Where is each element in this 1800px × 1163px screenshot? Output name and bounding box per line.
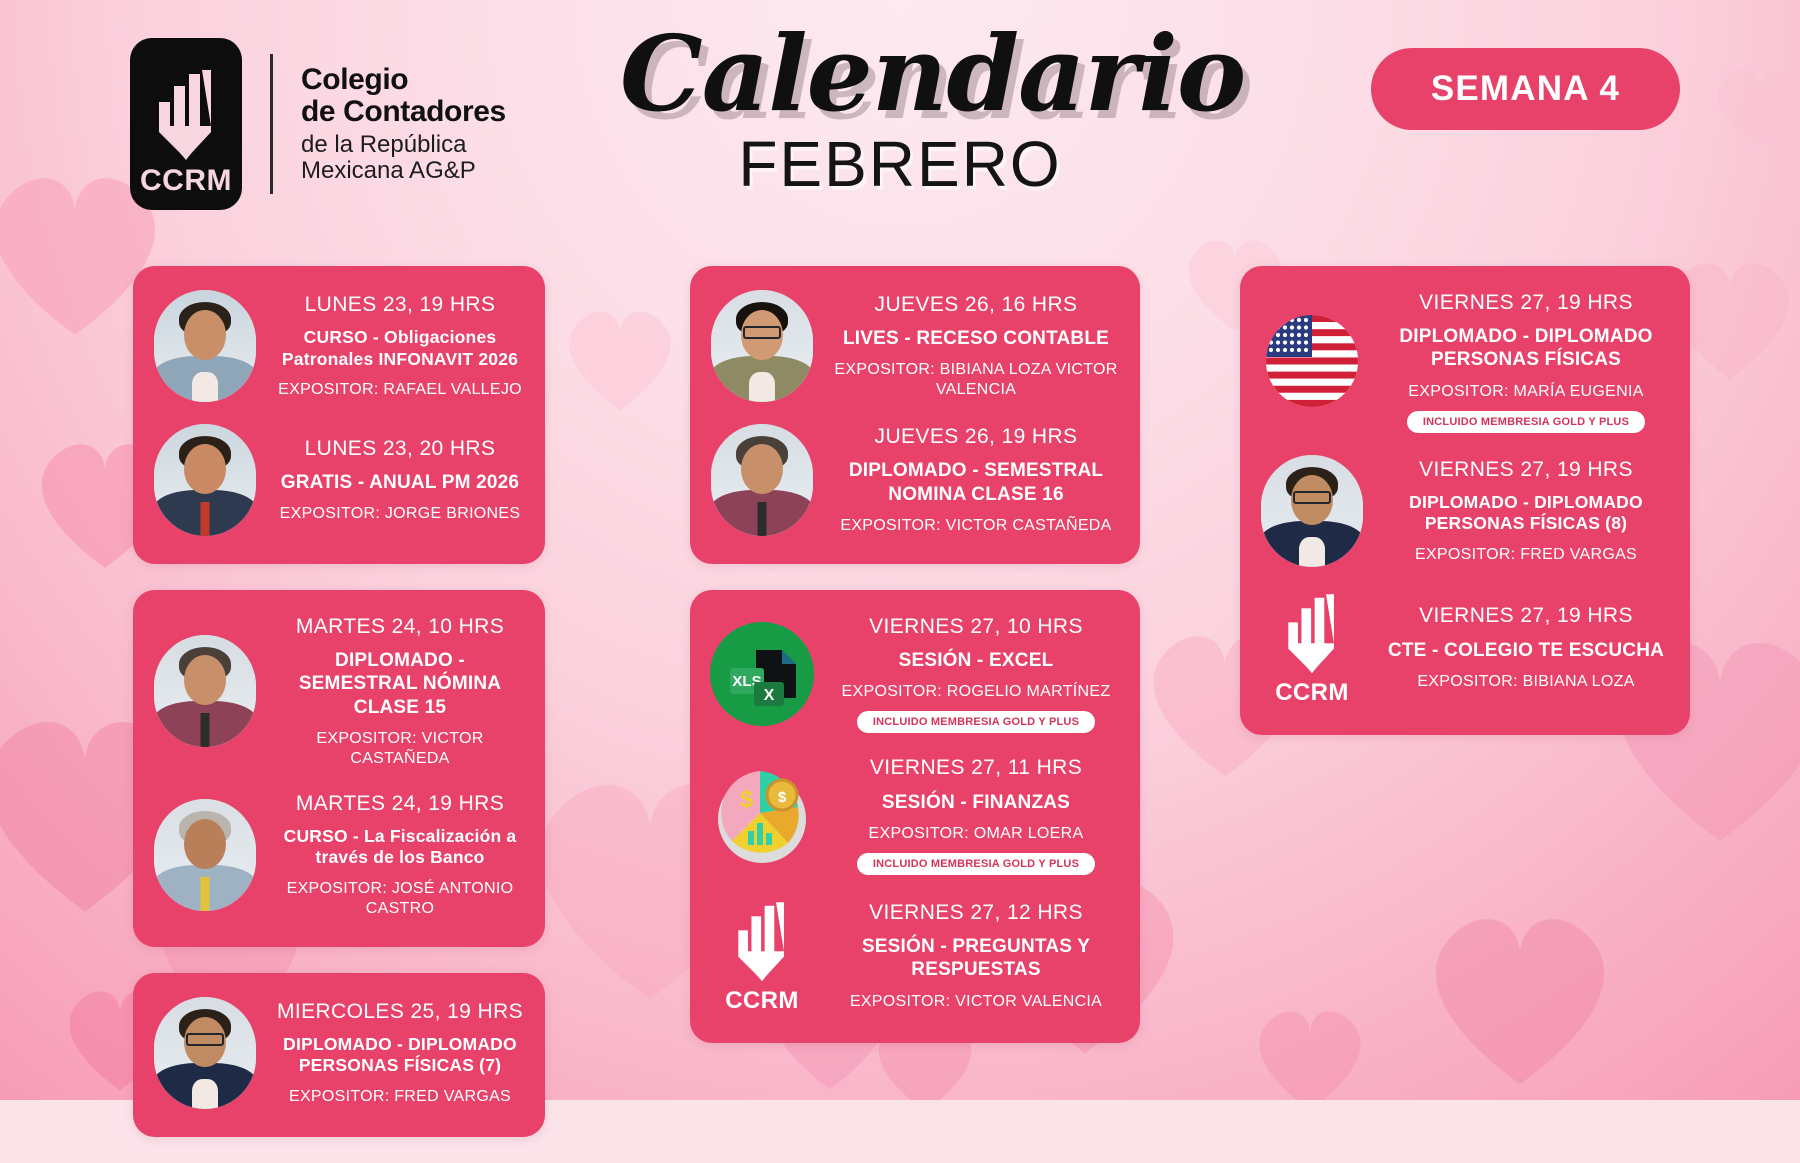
- title-month: FEBRERO: [620, 132, 1180, 196]
- page-header: CCRM Colegio de Contadores de la Repúbli…: [0, 0, 1800, 250]
- event-media: [149, 424, 261, 536]
- event-item[interactable]: MARTES 24, 19 HRSCURSO - La Fiscalizació…: [149, 785, 529, 925]
- event-media: [149, 635, 261, 747]
- event-title: CTE - COLEGIO TE ESCUCHA: [1382, 639, 1670, 662]
- card-jueves-26[interactable]: JUEVES 26, 16 HRSLIVES - RECESO CONTABLE…: [690, 266, 1140, 564]
- event-title: DIPLOMADO - SEMESTRAL NÓMINA CLASE 15: [275, 649, 525, 719]
- event-media: [149, 799, 261, 911]
- logo-divider: [270, 54, 273, 194]
- photo-bibiana-loza: [711, 290, 813, 402]
- event-item[interactable]: VIERNES 27, 19 HRSDIPLOMADO - DIPLOMADO …: [1256, 449, 1674, 573]
- event-item[interactable]: MARTES 24, 10 HRSDIPLOMADO - SEMESTRAL N…: [149, 608, 529, 775]
- ccrm-pencil-chart-icon: [149, 64, 223, 162]
- event-speaker: EXPOSITOR: MARÍA EUGENIA: [1382, 382, 1670, 402]
- event-item[interactable]: JUEVES 26, 16 HRSLIVES - RECESO CONTABLE…: [706, 284, 1124, 408]
- event-title: DIPLOMADO - DIPLOMADO PERSONAS FÍSICAS: [1382, 325, 1670, 371]
- event-media: [706, 290, 818, 402]
- event-title: GRATIS - ANUAL PM 2026: [275, 471, 525, 494]
- ccrm-icon-label: CCRM: [725, 987, 799, 1015]
- photo-victor-castaneda: [154, 635, 256, 747]
- event-speaker: EXPOSITOR: VICTOR CASTAÑEDA: [832, 516, 1120, 536]
- svg-text:X: X: [764, 687, 775, 704]
- event-media: [706, 424, 818, 536]
- membership-badge: INCLUIDO MEMBRESIA GOLD Y PLUS: [1407, 411, 1645, 433]
- membership-badge: INCLUIDO MEMBRESIA GOLD Y PLUS: [857, 711, 1095, 733]
- event-title: SESIÓN - FINANZAS: [832, 791, 1120, 814]
- event-media: $$: [706, 763, 818, 867]
- card-lunes-23[interactable]: LUNES 23, 19 HRSCURSO - Obligaciones Pat…: [133, 266, 545, 564]
- event-media: [1256, 315, 1368, 407]
- event-speaker: EXPOSITOR: VICTOR CASTAÑEDA: [275, 729, 525, 769]
- event-item[interactable]: VIERNES 27, 19 HRSDIPLOMADO - DIPLOMADO …: [1256, 284, 1674, 439]
- event-speaker: EXPOSITOR: FRED VARGAS: [275, 1087, 525, 1107]
- event-body: VIERNES 27, 12 HRSSESIÓN - PREGUNTAS Y R…: [828, 900, 1124, 1012]
- event-title: SESIÓN - EXCEL: [832, 649, 1120, 672]
- brand-logo: CCRM Colegio de Contadores de la Repúbli…: [130, 38, 506, 210]
- week-badge: SEMANA 4: [1371, 48, 1680, 130]
- ccrm-pencil-chart-icon: [729, 897, 795, 983]
- brand-name: Colegio de Contadores de la República Me…: [301, 64, 506, 185]
- event-date: MARTES 24, 19 HRS: [275, 791, 525, 817]
- event-media: CCRM: [706, 897, 818, 1015]
- event-date: MARTES 24, 10 HRS: [275, 614, 525, 640]
- event-date: VIERNES 27, 19 HRS: [1382, 457, 1670, 483]
- event-item[interactable]: JUEVES 26, 19 HRSDIPLOMADO - SEMESTRAL N…: [706, 418, 1124, 542]
- brand-line-4: Mexicana AG&P: [301, 158, 506, 184]
- event-item[interactable]: LUNES 23, 20 HRSGRATIS - ANUAL PM 2026EX…: [149, 418, 529, 542]
- event-media: [149, 290, 261, 402]
- event-item[interactable]: LUNES 23, 19 HRSCURSO - Obligaciones Pat…: [149, 284, 529, 408]
- event-speaker: EXPOSITOR: RAFAEL VALLEJO: [275, 380, 525, 400]
- event-speaker: EXPOSITOR: OMAR LOERA: [832, 824, 1120, 844]
- brand-line-2: de Contadores: [301, 96, 506, 128]
- event-title: CURSO - Obligaciones Patronales INFONAVI…: [275, 327, 525, 370]
- event-body: VIERNES 27, 11 HRSSESIÓN - FINANZASEXPOS…: [828, 755, 1124, 874]
- event-date: JUEVES 26, 16 HRS: [832, 292, 1120, 318]
- event-speaker: EXPOSITOR: BIBIANA LOZA: [1382, 672, 1670, 692]
- event-body: MARTES 24, 10 HRSDIPLOMADO - SEMESTRAL N…: [271, 614, 529, 769]
- event-speaker: EXPOSITOR: VICTOR VALENCIA: [832, 992, 1120, 1012]
- event-speaker: EXPOSITOR: BIBIANA LOZA VICTOR VALENCIA: [832, 360, 1120, 400]
- event-speaker: EXPOSITOR: JORGE BRIONES: [275, 504, 525, 524]
- event-body: MARTES 24, 19 HRSCURSO - La Fiscalizació…: [271, 791, 529, 919]
- event-item[interactable]: CCRMVIERNES 27, 19 HRSCTE - COLEGIO TE E…: [1256, 583, 1674, 713]
- event-title: SESIÓN - PREGUNTAS Y RESPUESTAS: [832, 935, 1120, 981]
- event-speaker: EXPOSITOR: ROGELIO MARTÍNEZ: [832, 682, 1120, 702]
- event-date: JUEVES 26, 19 HRS: [832, 424, 1120, 450]
- ccrm-pencil-chart-icon: [1279, 589, 1345, 675]
- event-date: VIERNES 27, 10 HRS: [832, 614, 1120, 640]
- photo-jose-antonio-castro: [154, 799, 256, 911]
- event-media: XLSX: [706, 622, 818, 726]
- svg-text:$: $: [740, 786, 754, 813]
- event-title: LIVES - RECESO CONTABLE: [832, 327, 1120, 350]
- event-date: VIERNES 27, 19 HRS: [1382, 603, 1670, 629]
- card-viernes-27-sesiones[interactable]: XLSXVIERNES 27, 10 HRSSESIÓN - EXCELEXPO…: [690, 590, 1140, 1043]
- event-body: MIERCOLES 25, 19 HRSDIPLOMADO - DIPLOMAD…: [271, 999, 529, 1107]
- event-speaker: EXPOSITOR: FRED VARGAS: [1382, 545, 1670, 565]
- event-item[interactable]: MIERCOLES 25, 19 HRSDIPLOMADO - DIPLOMAD…: [149, 991, 529, 1115]
- event-date: VIERNES 27, 19 HRS: [1382, 290, 1670, 316]
- ccrm-logo-icon: CCRM: [710, 897, 814, 1015]
- card-martes-24[interactable]: MARTES 24, 10 HRSDIPLOMADO - SEMESTRAL N…: [133, 590, 545, 947]
- event-title: DIPLOMADO - DIPLOMADO PERSONAS FÍSICAS (…: [275, 1034, 525, 1077]
- event-body: VIERNES 27, 19 HRSDIPLOMADO - DIPLOMADO …: [1378, 290, 1674, 433]
- svg-text:$: $: [778, 789, 787, 806]
- event-date: VIERNES 27, 12 HRS: [832, 900, 1120, 926]
- ccrm-logo-text: CCRM: [140, 166, 232, 196]
- card-miercoles-25[interactable]: MIERCOLES 25, 19 HRSDIPLOMADO - DIPLOMAD…: [133, 973, 545, 1137]
- event-media: [149, 997, 261, 1109]
- photo-rafael-vallejo: [154, 290, 256, 402]
- photo-fred-vargas: [1261, 455, 1363, 567]
- event-item[interactable]: $$VIERNES 27, 11 HRSSESIÓN - FINANZASEXP…: [706, 749, 1124, 880]
- ccrm-logo-icon: CCRM: [1260, 589, 1364, 707]
- event-title: DIPLOMADO - DIPLOMADO PERSONAS FÍSICAS (…: [1382, 492, 1670, 535]
- column-middle: JUEVES 26, 16 HRSLIVES - RECESO CONTABLE…: [690, 266, 1140, 1069]
- column-left: LUNES 23, 19 HRSCURSO - Obligaciones Pat…: [133, 266, 545, 1163]
- photo-victor-castaneda: [711, 424, 813, 536]
- event-media: CCRM: [1256, 589, 1368, 707]
- event-body: VIERNES 27, 19 HRSCTE - COLEGIO TE ESCUC…: [1378, 603, 1674, 691]
- event-title: CURSO - La Fiscalización a través de los…: [275, 826, 525, 869]
- event-media: [1256, 455, 1368, 567]
- ccrm-icon-label: CCRM: [1275, 679, 1349, 707]
- event-item[interactable]: XLSXVIERNES 27, 10 HRSSESIÓN - EXCELEXPO…: [706, 608, 1124, 739]
- finance-pie-chart-icon: $$: [710, 763, 814, 867]
- brand-line-3: de la República: [301, 132, 506, 158]
- page-title: Calendario FEBRERO: [620, 22, 1180, 196]
- event-body: VIERNES 27, 10 HRSSESIÓN - EXCELEXPOSITO…: [828, 614, 1124, 733]
- event-date: LUNES 23, 19 HRS: [275, 292, 525, 318]
- event-date: VIERNES 27, 11 HRS: [832, 755, 1120, 781]
- photo-jorge-briones: [154, 424, 256, 536]
- column-right: VIERNES 27, 19 HRSDIPLOMADO - DIPLOMADO …: [1240, 266, 1690, 761]
- usa-flag-icon: [1266, 315, 1358, 407]
- event-body: LUNES 23, 20 HRSGRATIS - ANUAL PM 2026EX…: [271, 436, 529, 524]
- title-calendario: Calendario: [620, 22, 1180, 126]
- membership-badge: INCLUIDO MEMBRESIA GOLD Y PLUS: [857, 853, 1095, 875]
- event-body: JUEVES 26, 19 HRSDIPLOMADO - SEMESTRAL N…: [828, 424, 1124, 536]
- ccrm-logo-mark: CCRM: [130, 38, 242, 210]
- calendar-board: LUNES 23, 19 HRSCURSO - Obligaciones Pat…: [0, 266, 1800, 1100]
- event-body: VIERNES 27, 19 HRSDIPLOMADO - DIPLOMADO …: [1378, 457, 1674, 565]
- card-viernes-27[interactable]: VIERNES 27, 19 HRSDIPLOMADO - DIPLOMADO …: [1240, 266, 1690, 735]
- event-title: DIPLOMADO - SEMESTRAL NOMINA CLASE 16: [832, 459, 1120, 505]
- event-date: LUNES 23, 20 HRS: [275, 436, 525, 462]
- photo-fred-vargas: [154, 997, 256, 1109]
- event-date: MIERCOLES 25, 19 HRS: [275, 999, 525, 1025]
- event-body: JUEVES 26, 16 HRSLIVES - RECESO CONTABLE…: [828, 292, 1124, 400]
- excel-xls-icon: XLSX: [710, 622, 814, 726]
- brand-line-1: Colegio: [301, 64, 506, 96]
- event-item[interactable]: CCRMVIERNES 27, 12 HRSSESIÓN - PREGUNTAS…: [706, 891, 1124, 1021]
- event-speaker: EXPOSITOR: JOSÉ ANTONIO CASTRO: [275, 879, 525, 919]
- event-body: LUNES 23, 19 HRSCURSO - Obligaciones Pat…: [271, 292, 529, 400]
